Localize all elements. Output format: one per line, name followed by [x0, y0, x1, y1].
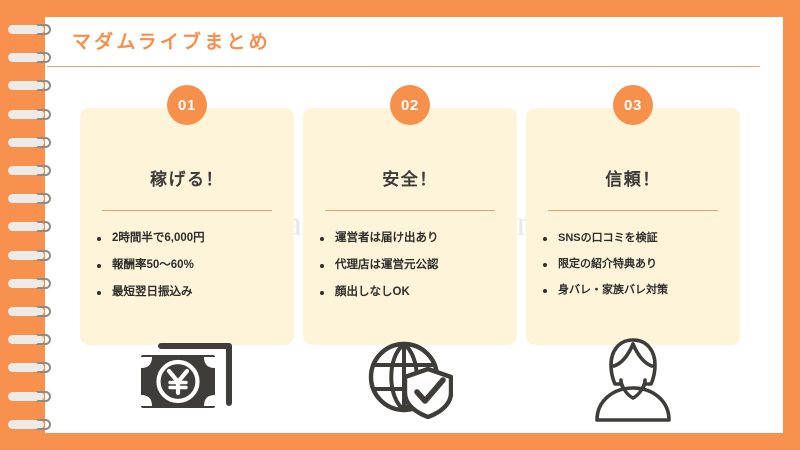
list-item: 顔出しなしOK: [315, 285, 511, 301]
list-item: 報酬率50〜60%: [92, 258, 288, 274]
page-title-wrap: マダムライブまとめ: [72, 31, 762, 55]
cards-row: 01 稼げる！ 2時間半で6,000円 報酬率50〜60% 最短翌日振込み: [80, 85, 740, 425]
banknote-yen-icon: [135, 341, 239, 422]
title-divider: [47, 66, 760, 67]
card-icon-holder: [303, 338, 517, 424]
spiral-ring-bar: [8, 307, 44, 316]
spiral-ring-bar: [8, 138, 44, 147]
spiral-ring-bar: [8, 279, 44, 288]
spiral-ring-bar: [8, 25, 44, 34]
feature-card: 安全！ 運営者は届け出あり 代理店は運営元公認 顔出しなしOK: [303, 108, 517, 345]
card-number-badge: 02: [390, 85, 430, 125]
slide-canvas: マダムライブまとめ https://chatlady-rei35.com/ 01…: [0, 0, 800, 450]
card-title: 信頼！: [526, 165, 740, 190]
list-item: 代理店は運営元公認: [315, 258, 511, 274]
spiral-ring-bar: [8, 392, 44, 401]
card-title: 稼げる！: [80, 165, 294, 190]
list-item: 限定の紹介特典あり: [538, 257, 734, 272]
spiral-ring-bar: [8, 363, 44, 372]
card-number-badge: 03: [613, 85, 653, 125]
card-bullet-list: SNSの口コミを検証 限定の紹介特典あり 身バレ・家族バレ対策: [538, 231, 734, 310]
spiral-ring-bar: [8, 420, 44, 429]
card-title: 安全！: [303, 165, 517, 190]
spiral-ring-bar: [8, 251, 44, 260]
card-icon-holder: [80, 338, 294, 424]
card-divider: [102, 210, 272, 211]
spiral-ring-bar: [8, 81, 44, 90]
card-divider: [548, 210, 718, 211]
card-icon-holder: [526, 338, 740, 424]
spiral-ring-bar: [8, 53, 44, 62]
spiral-ring-bar: [8, 110, 44, 119]
woman-avatar-icon: [591, 336, 675, 427]
page-title: マダムライブまとめ: [72, 31, 762, 55]
card-bullet-list: 運営者は届け出あり 代理店は運営元公認 顔出しなしOK: [315, 231, 511, 312]
card-bullet-list: 2時間半で6,000円 報酬率50〜60% 最短翌日振込み: [92, 231, 288, 312]
spiral-ring-bar: [8, 335, 44, 344]
feature-card: 信頼！ SNSの口コミを検証 限定の紹介特典あり 身バレ・家族バレ対策: [526, 108, 740, 345]
spiral-ring-bar: [8, 194, 44, 203]
list-item: SNSの口コミを検証: [538, 231, 734, 246]
feature-column-1: 01 稼げる！ 2時間半で6,000円 報酬率50〜60% 最短翌日振込み: [80, 85, 294, 425]
spiral-ring-bar: [8, 222, 44, 231]
card-number-badge: 01: [167, 85, 207, 125]
list-item: 運営者は届け出あり: [315, 231, 511, 247]
card-divider: [325, 210, 495, 211]
list-item: 2時間半で6,000円: [92, 231, 288, 247]
feature-column-2: 02 安全！ 運営者は届け出あり 代理店は運営元公認 顔出しなしOK: [303, 85, 517, 425]
feature-card: 稼げる！ 2時間半で6,000円 報酬率50〜60% 最短翌日振込み: [80, 108, 294, 345]
list-item: 身バレ・家族バレ対策: [538, 283, 734, 298]
globe-shield-check-icon: [367, 339, 453, 424]
feature-column-3: 03 信頼！ SNSの口コミを検証 限定の紹介特典あり 身バレ・家族バレ対策: [526, 85, 740, 425]
list-item: 最短翌日振込み: [92, 285, 288, 301]
spiral-ring-bar: [8, 166, 44, 175]
